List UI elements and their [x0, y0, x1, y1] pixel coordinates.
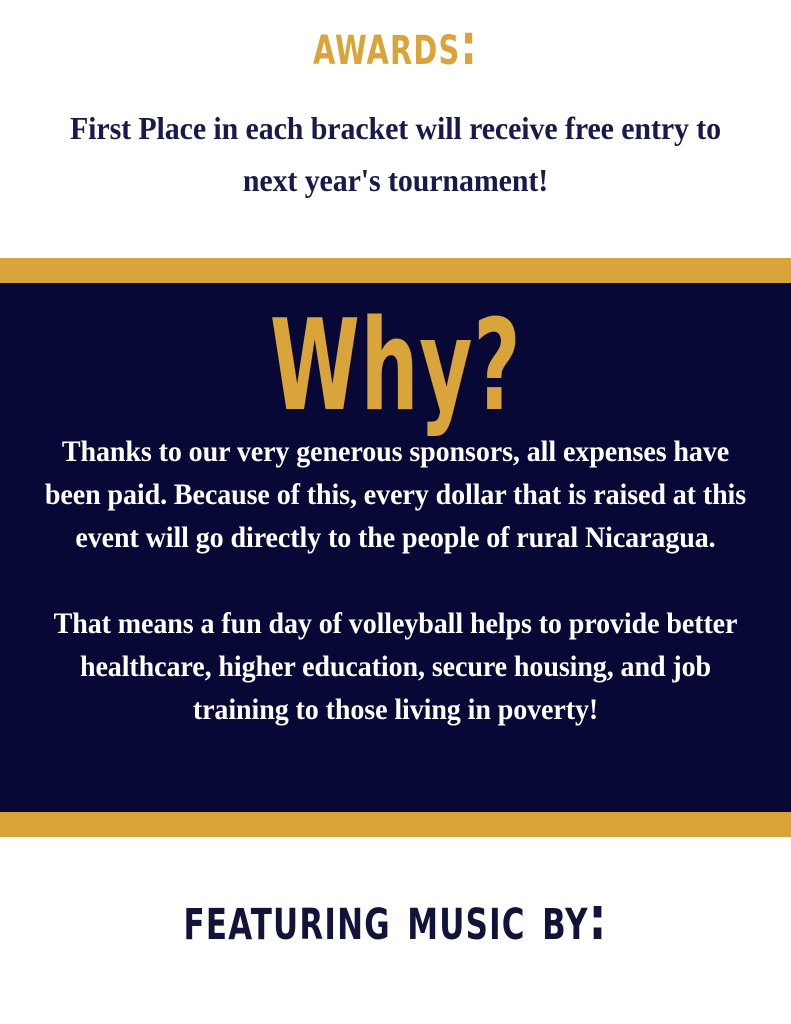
awards-heading: Awards:: [79, 16, 712, 76]
flyer-page: Awards: First Place in each bracket will…: [0, 0, 791, 1024]
why-description: Thanks to our very generous sponsors, al…: [39, 431, 752, 732]
gold-divider-top: [0, 258, 791, 283]
awards-description: First Place in each bracket will receive…: [44, 103, 746, 207]
why-paragraph-2: That means a fun day of volleyball helps…: [39, 603, 752, 732]
why-section: Why? Thanks to our very generous sponsor…: [0, 283, 791, 812]
why-heading: Why?: [111, 303, 681, 429]
featuring-section: Featuring music by:: [0, 837, 791, 1024]
awards-section: Awards: First Place in each bracket will…: [0, 0, 791, 258]
featuring-heading: Featuring music by:: [79, 887, 712, 951]
gold-divider-bottom: [0, 812, 791, 837]
why-paragraph-1: Thanks to our very generous sponsors, al…: [39, 431, 752, 560]
paragraph-spacer: [39, 560, 752, 603]
